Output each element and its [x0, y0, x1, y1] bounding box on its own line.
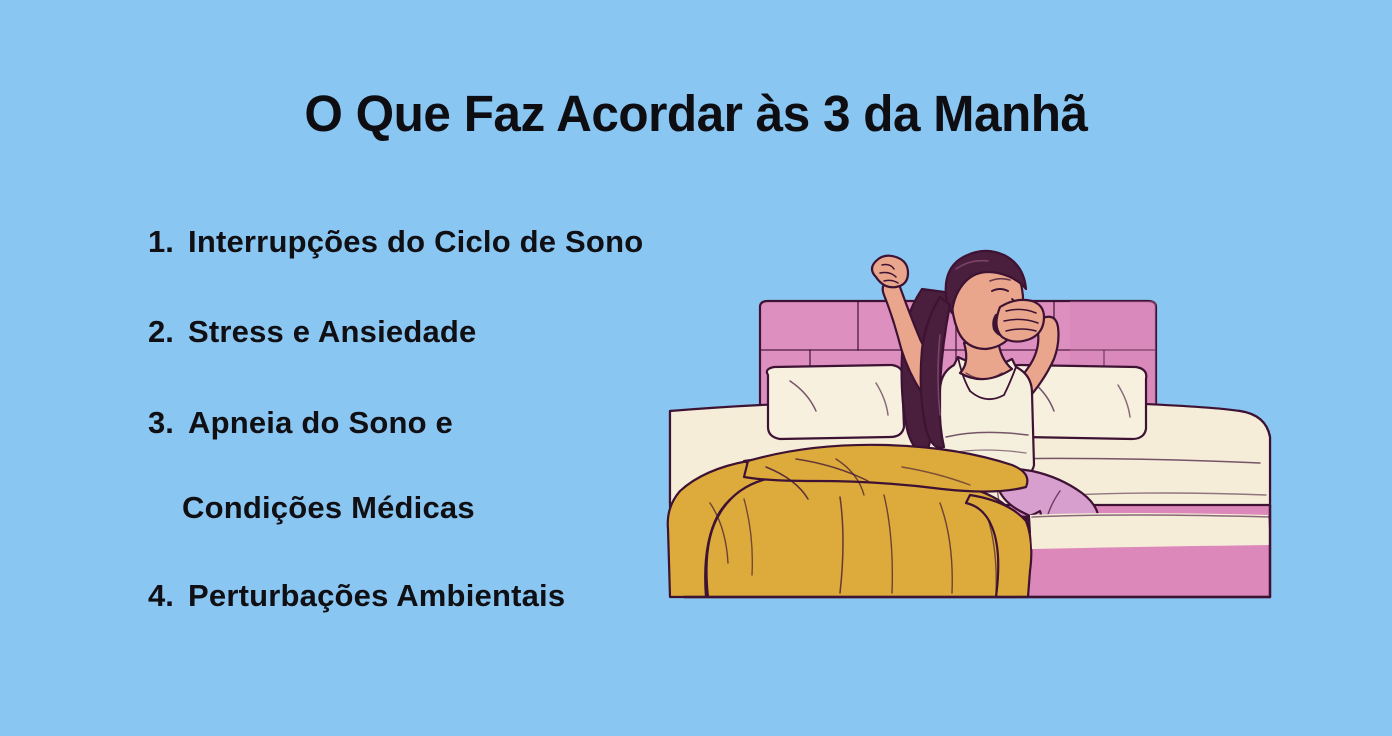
list-item-label: Apneia do Sono e: [188, 405, 453, 440]
list-item-label-continuation: Condições Médicas: [182, 488, 475, 528]
list-item-number: 2.: [148, 312, 188, 352]
list-item-label: Stress e Ansiedade: [188, 312, 476, 352]
mattress-edge-right: [1030, 513, 1270, 549]
page-title: O Que Faz Acordar às 3 da Manhã: [21, 84, 1371, 143]
blanket: [668, 445, 1032, 597]
pillow-left: [767, 365, 904, 439]
list-item-label: Perturbações Ambientais: [188, 576, 565, 616]
bed-scene-svg: [640, 215, 1300, 615]
list-item-label: Interrupções do Ciclo de Sono: [188, 222, 643, 262]
list-item-number: 3.: [148, 403, 188, 443]
poster-canvas: O Que Faz Acordar às 3 da Manhã 1. Inter…: [0, 0, 1392, 736]
woman-yawning-on-bed-illustration: [640, 215, 1300, 615]
list-item-label-wrapper: Apneia do Sono e Condições Médicas: [188, 403, 475, 528]
list-item-number: 4.: [148, 576, 188, 616]
list-item-number: 1.: [148, 222, 188, 262]
